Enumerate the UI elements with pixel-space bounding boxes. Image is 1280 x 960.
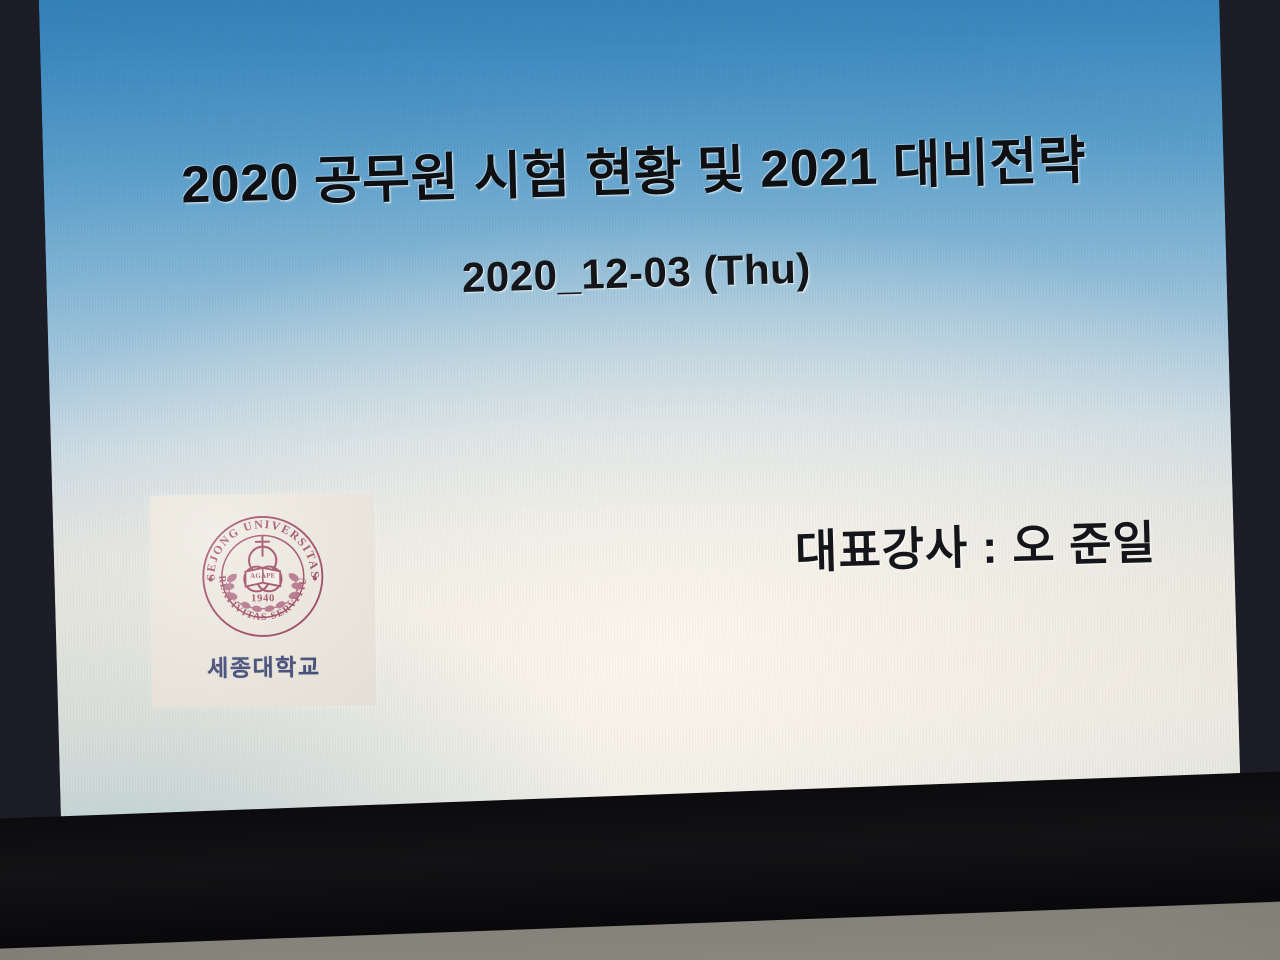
monitor-screen: 2020 공무원 시험 현황 및 2021 대비전략 2020_12-03 (T… bbox=[38, 0, 1241, 845]
presentation-slide: 2020 공무원 시험 현황 및 2021 대비전략 2020_12-03 (T… bbox=[38, 0, 1241, 845]
photograph-of-monitor: 2020 공무원 시험 현황 및 2021 대비전략 2020_12-03 (T… bbox=[0, 0, 1280, 960]
university-logo-card: SEJONG UNIVERSITAS CREATIVITAS SERVITIUM bbox=[150, 493, 376, 708]
slide-subtitle-date: 2020_12-03 (Thu) bbox=[46, 233, 1227, 313]
slide-presenter-name: 대표강사 : 오 준일 bbox=[794, 506, 1157, 582]
sejong-university-seal-icon: SEJONG UNIVERSITAS CREATIVITAS SERVITIUM bbox=[200, 514, 325, 639]
slide-content: 2020 공무원 시험 현황 및 2021 대비전략 2020_12-03 (T… bbox=[38, 0, 1241, 845]
slide-title: 2020 공무원 시험 현황 및 2021 대비전략 bbox=[43, 114, 1225, 221]
university-name-korean: 세종대학교 bbox=[207, 648, 321, 683]
svg-text:AGAPE: AGAPE bbox=[250, 573, 276, 580]
monitor-screen-area: 2020 공무원 시험 현황 및 2021 대비전략 2020_12-03 (T… bbox=[0, 0, 1280, 845]
svg-text:1940: 1940 bbox=[251, 593, 275, 604]
